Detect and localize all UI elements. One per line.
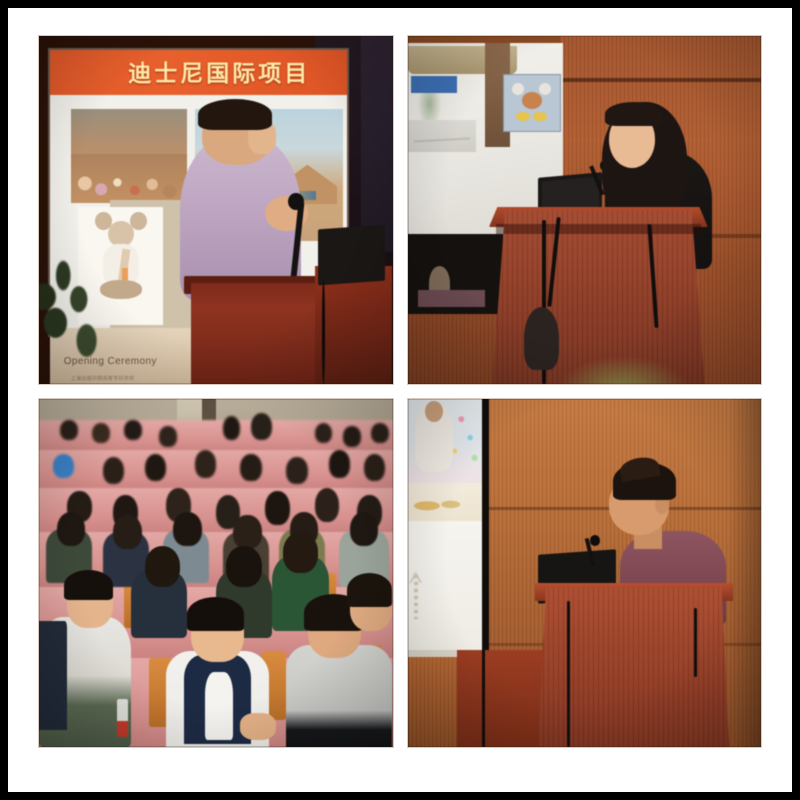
mickey-mouse-banner (503, 74, 562, 132)
audience-member (145, 546, 180, 587)
audience-member (92, 423, 110, 443)
audience-member-shirt (205, 672, 233, 740)
tree-trunk (414, 575, 417, 618)
mickey-head (108, 221, 133, 247)
audience-member (173, 512, 201, 546)
audience-member (283, 532, 318, 573)
audience-member (364, 454, 385, 481)
audience-member (226, 546, 261, 587)
speaker-hair (198, 99, 272, 130)
slide-banner-text: 迪士尼国际项目 (110, 47, 329, 96)
slide-tree-of-life-photo (408, 521, 482, 657)
photo-bottom-left[interactable] (38, 398, 394, 748)
audience-member (124, 420, 142, 440)
audience-member (240, 454, 261, 481)
audience-member (53, 454, 74, 478)
audience-member (315, 423, 333, 443)
audience-member (286, 645, 392, 747)
audience-member (159, 426, 177, 446)
photo-mat: 迪士尼国际项目 Opening Ceremony 上海出版印刷高等专科学校 (8, 8, 792, 792)
audience-seating (39, 406, 393, 747)
laptop (318, 225, 385, 285)
audience-member (103, 457, 124, 484)
audience-member (315, 488, 340, 522)
audience-member (329, 450, 350, 477)
mickey-ear-right-icon (539, 83, 551, 95)
audience-member (371, 423, 389, 443)
photo-bottom-right[interactable] (407, 398, 763, 748)
screen-frame-edge (482, 399, 489, 657)
floor-stand (524, 307, 559, 370)
foreground-plant (556, 356, 690, 384)
audience-member-hands (240, 713, 275, 740)
podium-shelf (496, 224, 701, 234)
photo-bottom-right-image (408, 399, 762, 747)
audience-member (195, 450, 216, 477)
audience-member-hair (347, 573, 393, 607)
mickey-shoe-right (533, 112, 547, 121)
microphone-icon (288, 193, 304, 210)
slide-thumbnail-group-photo (71, 109, 188, 203)
slide-road (408, 120, 476, 153)
photo-frame: 迪士尼国际项目 Opening Ceremony 上海出版印刷高等专科学校 (0, 0, 800, 800)
mickey-shoe-left (516, 112, 530, 121)
speaker-hair-top (605, 102, 662, 126)
audience-member-hair (64, 570, 113, 601)
mickey-ear-left-icon (512, 83, 524, 95)
photo-top-right[interactable] (407, 35, 763, 385)
audience-member (223, 416, 241, 440)
photo-top-left-image: 迪士尼国际项目 Opening Ceremony 上海出版印刷高等专科学校 (39, 36, 393, 384)
audience-member (233, 515, 261, 549)
cable-3 (694, 608, 698, 678)
right-wall-panel (361, 36, 393, 252)
audience-member (343, 426, 361, 446)
cable-1 (567, 601, 571, 747)
audience-member (251, 413, 272, 440)
street-sign (411, 76, 457, 93)
audience-member (60, 420, 78, 440)
mickey-face (522, 92, 542, 109)
mickey-ear-right-icon (130, 212, 147, 230)
podium (191, 283, 325, 384)
potted-plant (39, 252, 110, 370)
photo-bottom-left-image (39, 399, 393, 747)
audience-member (57, 512, 85, 546)
audience-member (350, 512, 378, 546)
right-shadow (729, 399, 761, 747)
slide-middle-artwork (411, 489, 475, 517)
photo-top-left[interactable]: 迪士尼国际项目 Opening Ceremony 上海出版印刷高等专科学校 (38, 35, 394, 385)
window-seats (418, 290, 485, 307)
slide-character-head (425, 401, 443, 422)
photo-top-right-image (408, 36, 762, 384)
water-bottle (117, 699, 128, 737)
audience-member-jacket (39, 621, 67, 730)
wood-panel-seam-upper (560, 78, 761, 83)
cable-2 (482, 643, 486, 747)
microphone-icon (590, 535, 601, 546)
audience-member (145, 454, 166, 481)
audience-member-hair (187, 597, 244, 631)
audience-member (265, 491, 290, 525)
audience-member (113, 515, 141, 549)
audience-member (286, 457, 307, 484)
